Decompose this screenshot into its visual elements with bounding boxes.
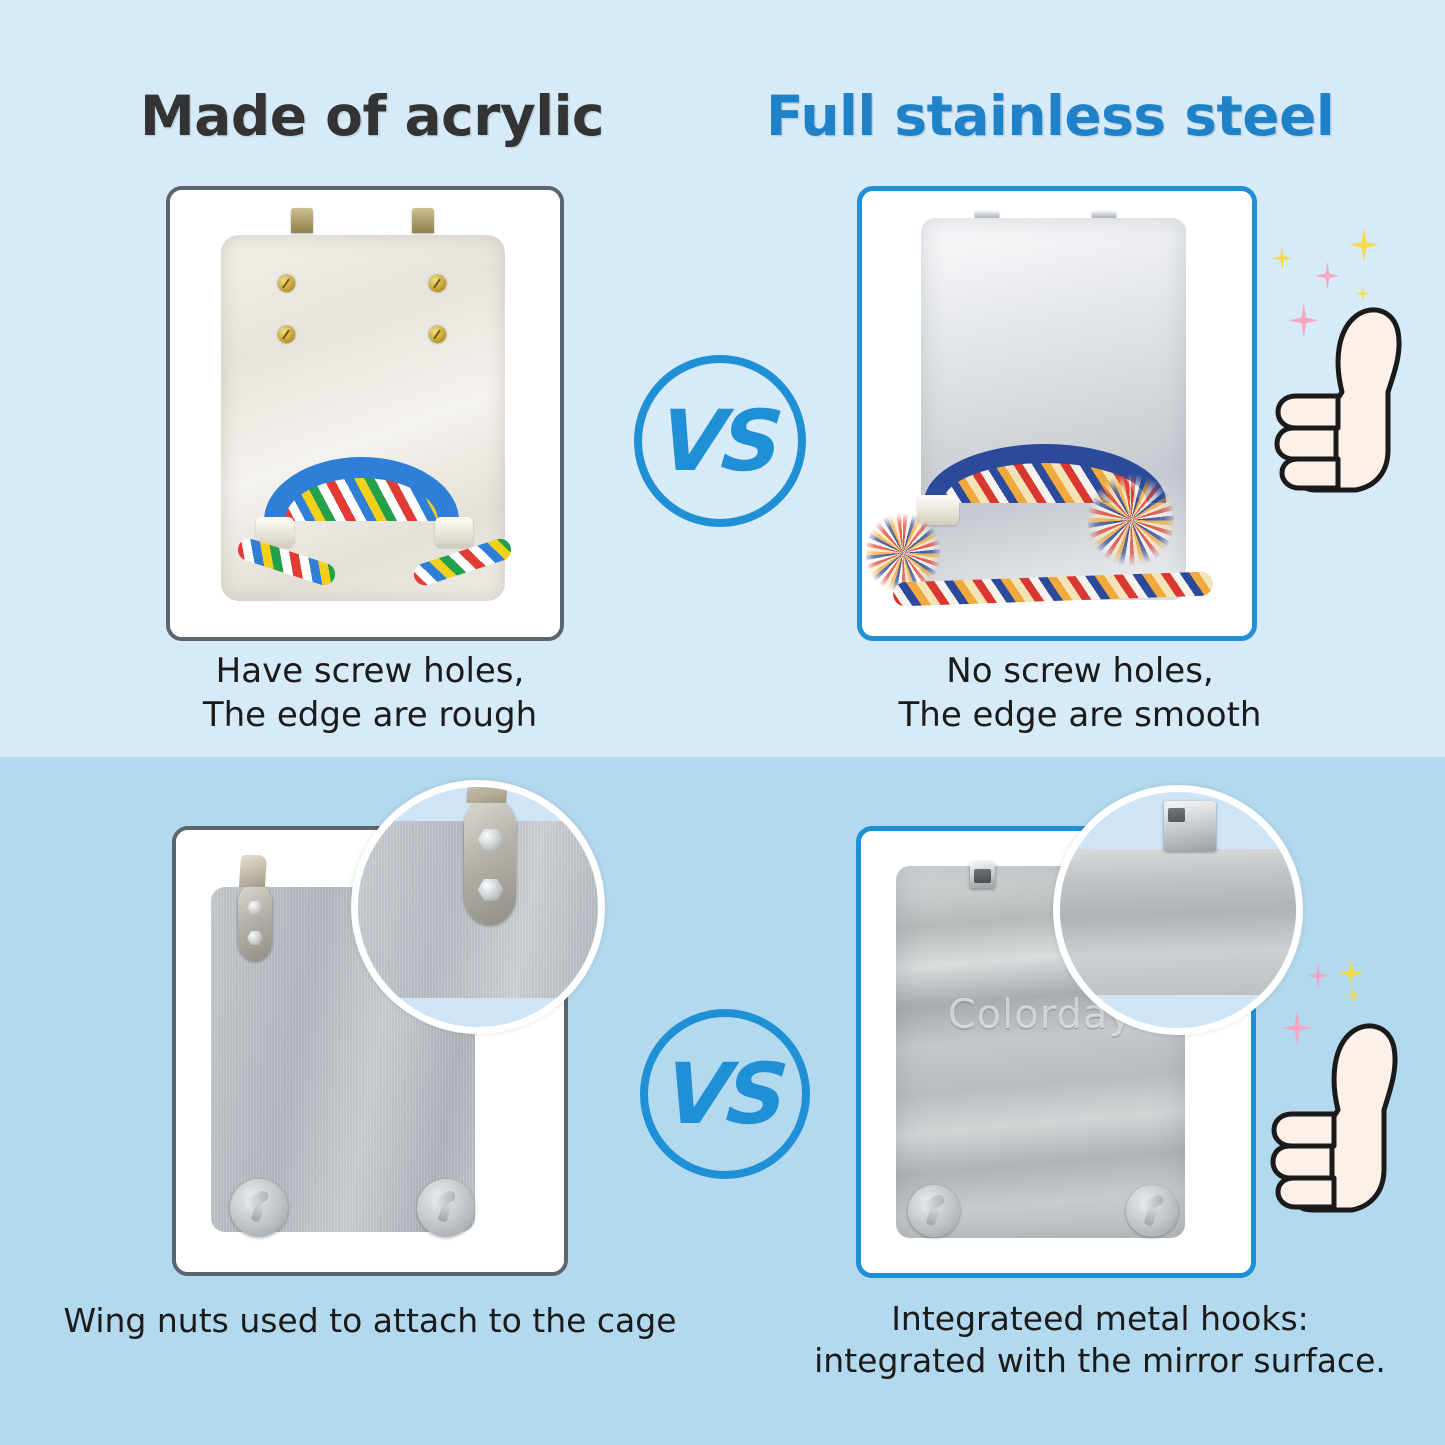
headings-row: Made of acrylic Full stainless steel — [0, 84, 1445, 160]
magnifier-content-right — [1060, 792, 1296, 1028]
wing-nut-left-icon — [908, 1185, 960, 1237]
sparkle-icon-2 — [1315, 262, 1339, 290]
sparkle-icon-1 — [1349, 228, 1379, 262]
thumbs-up-icon-top — [1272, 300, 1432, 500]
bracket-nut-lower-icon — [247, 931, 263, 945]
magnified-nut-upper-icon — [478, 829, 504, 851]
vs-badge-icon-bottom: VS — [640, 1009, 810, 1179]
wing-nut-right-icon — [1126, 1185, 1178, 1237]
caption-wingnuts: Wing nuts used to attach to the cage — [60, 1300, 680, 1342]
screw-bottom-right-icon — [429, 326, 446, 343]
vs-badge-icon-top: VS — [634, 355, 806, 527]
brass-hook-right-icon — [412, 208, 434, 233]
wing-nut-right-icon — [417, 1179, 475, 1237]
sparkle-icon-2 — [1307, 963, 1329, 989]
heading-right-stainless: Full stainless steel — [766, 84, 1334, 148]
thumbs-up-icon-bottom — [1268, 1015, 1428, 1220]
heading-left-acrylic: Made of acrylic — [140, 84, 604, 148]
caption-integrated-hooks: Integrateed metal hooks: integrated with… — [790, 1298, 1410, 1382]
magnifier-circle-icon-left — [351, 780, 605, 1034]
magnified-polished-plate — [1053, 849, 1303, 995]
bracket-tab-icon — [239, 855, 267, 887]
bolted-bracket-icon — [238, 883, 272, 961]
magnified-bracket-icon — [464, 797, 516, 925]
screw-bottom-left-icon — [278, 326, 295, 343]
sparkle-icon-1 — [1338, 958, 1364, 988]
screw-top-left-icon — [278, 275, 295, 292]
bracket-nut-upper-icon — [247, 901, 263, 915]
magnifier-content-left — [358, 787, 598, 1027]
vs-label-top: VS — [658, 399, 783, 483]
card-acrylic-photo — [170, 190, 560, 637]
magnified-bracket-tab-icon — [466, 780, 509, 803]
magnified-clip-hook-icon — [1164, 801, 1216, 851]
product-comparison-infographic: Made of acrylic Full stainless steel — [0, 0, 1445, 1445]
magnifier-circle-icon-right — [1053, 785, 1303, 1035]
card-acrylic-mirror — [166, 186, 564, 641]
caption-stainless: No screw holes, The edge are smooth — [830, 650, 1330, 737]
vs-label-bottom: VS — [663, 1052, 788, 1136]
sparkle-icon-3 — [1272, 246, 1292, 270]
brass-hook-left-icon — [291, 208, 313, 233]
acrylic-plate — [221, 235, 506, 602]
card-stainless-photo — [862, 191, 1252, 636]
integrated-clip-hook-icon — [970, 862, 995, 888]
caption-acrylic: Have screw holes, The edge are rough — [120, 650, 620, 737]
sparkle-icon-3 — [1346, 987, 1360, 1004]
stainless-plate — [921, 218, 1186, 601]
magnified-nut-lower-icon — [478, 879, 504, 901]
screw-top-right-icon — [429, 275, 446, 292]
card-stainless-mirror — [857, 186, 1257, 641]
